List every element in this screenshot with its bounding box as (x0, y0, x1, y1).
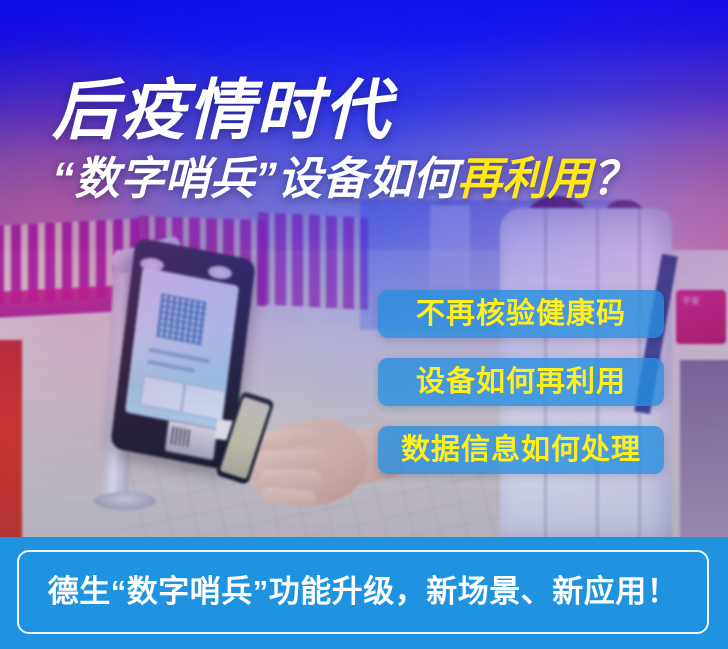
page-title: 后疫情时代 (52, 72, 637, 148)
photo-finger (258, 448, 325, 468)
topic-pill-2-label: 设备如何再利用 (416, 366, 626, 398)
topic-pill-list: 不再核验健康码 设备如何再利用 数据信息如何处理 (378, 290, 664, 474)
photo-wall-sign-text: 平安 (682, 296, 700, 307)
topic-pill-1[interactable]: 不再核验健康码 (378, 290, 664, 338)
photo-red-band (0, 340, 22, 540)
photo-finger (260, 469, 323, 488)
poster-image: 平安 后疫情时代 “数字哨兵”设备如何再利用？ 不再核验健康码 设备如何再利用 … (0, 0, 728, 649)
bottom-banner-text: 德生“数字哨兵”功能升级，新场景、新应用！ (48, 574, 679, 610)
kiosk-qr-code-icon (156, 293, 207, 345)
topic-pill-3-label: 数据信息如何处理 (401, 434, 641, 466)
kiosk-screen (125, 267, 239, 431)
subtitle-highlight: 再利用 (457, 153, 592, 204)
topic-pill-1-label: 不再核验健康码 (416, 298, 626, 330)
kiosk-screen-button (140, 375, 185, 413)
subtitle-question-mark: ？ (592, 153, 637, 204)
topic-pill-2[interactable]: 设备如何再利用 (378, 358, 664, 406)
kiosk-base (94, 492, 156, 510)
subtitle-prefix: “数字哨兵”设备如何 (52, 153, 457, 204)
page-subtitle: “数字哨兵”设备如何再利用？ (52, 154, 637, 204)
kiosk-reader-slot (170, 426, 190, 447)
topic-pill-3[interactable]: 数据信息如何处理 (378, 426, 664, 474)
bottom-banner: 德生“数字哨兵”功能升级，新场景、新应用！ (0, 537, 728, 649)
headline-block: 后疫情时代 “数字哨兵”设备如何再利用？ (52, 72, 637, 204)
bottom-banner-frame: 德生“数字哨兵”功能升级，新场景、新应用！ (17, 550, 709, 634)
photo-barrier-fence-right (258, 212, 368, 310)
kiosk-screen-button (181, 383, 226, 421)
photo-right-shadow (680, 360, 728, 540)
kiosk-screen-line (147, 360, 195, 373)
